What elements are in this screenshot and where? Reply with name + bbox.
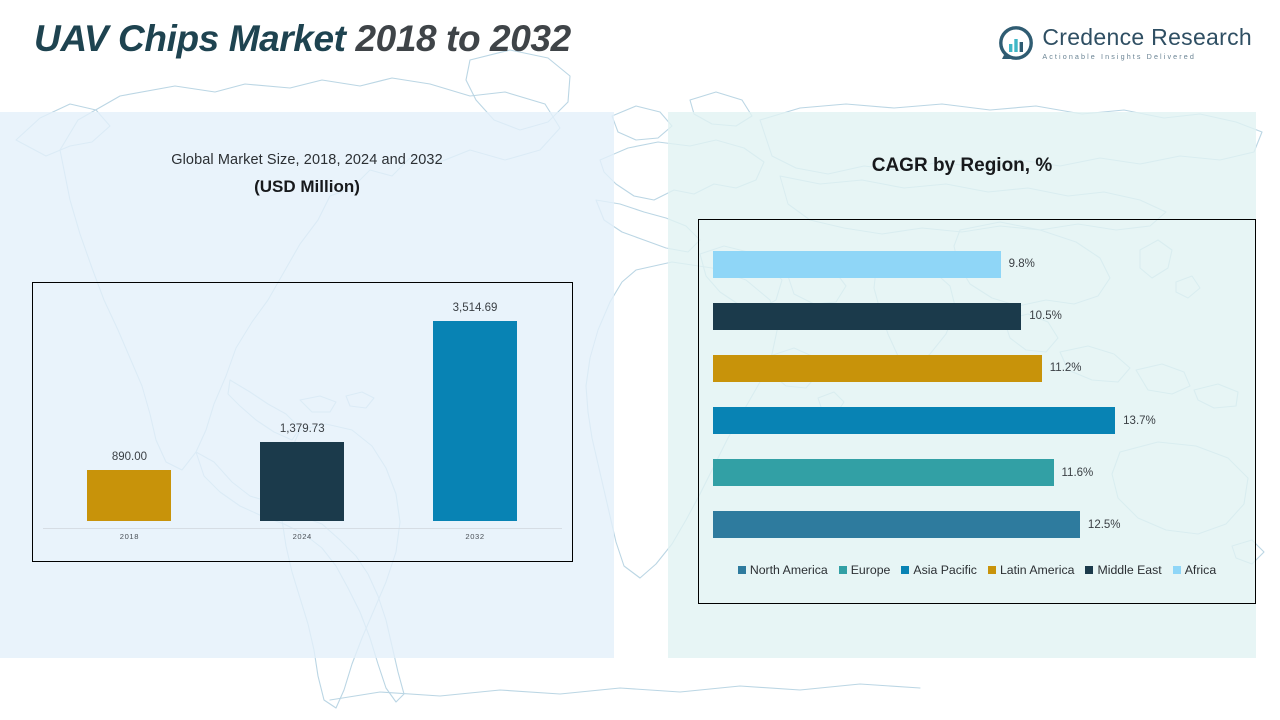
vertical-bar-category-label: 2032 [465, 521, 484, 551]
legend-item[interactable]: North America [738, 563, 828, 577]
right-chart-title-text: CAGR by Region, % [668, 155, 1256, 177]
horizontal-bar-value-label: 12.5% [1088, 519, 1121, 531]
vertical-bars-group: 890.0020181,379.7320243,514.692032 [43, 293, 562, 551]
vertical-bar [433, 321, 517, 521]
horizontal-bar-value-label: 10.5% [1029, 310, 1062, 322]
horizontal-bar [713, 355, 1042, 382]
vertical-bar [87, 470, 171, 521]
legend-swatch-icon [901, 566, 909, 574]
brand-tagline: Actionable Insights Delivered [1042, 53, 1252, 60]
horizontal-bars-group: 9.8%10.5%11.2%13.7%11.6%12.5% [713, 238, 1247, 551]
infographic-root: { "header": { "title_main": "UAV Chips M… [0, 0, 1280, 720]
horizontal-bar-row: 10.5% [713, 290, 1247, 342]
vertical-bar-value-label: 1,379.73 [280, 423, 325, 435]
horizontal-bar [713, 303, 1021, 330]
legend-item[interactable]: Asia Pacific [901, 563, 977, 577]
horizontal-bar-row: 9.8% [713, 238, 1247, 290]
left-chart-title-line1: Global Market Size, 2018, 2024 and 2032 [0, 152, 614, 168]
legend-label: Africa [1185, 563, 1216, 577]
right-chart-title: CAGR by Region, % [668, 155, 1256, 177]
legend-item[interactable]: Europe [839, 563, 891, 577]
horizontal-bar-value-label: 11.6% [1062, 467, 1094, 479]
horizontal-bar-row: 12.5% [713, 499, 1247, 551]
legend-item[interactable]: Middle East [1085, 563, 1161, 577]
horizontal-bar-row: 11.2% [713, 342, 1247, 394]
legend-label: North America [750, 563, 828, 577]
horizontal-bar-row: 13.7% [713, 394, 1247, 446]
cagr-by-region-chart: 9.8%10.5%11.2%13.7%11.6%12.5% North Amer… [698, 219, 1256, 604]
vertical-bar-group: 890.002018 [43, 293, 216, 551]
horizontal-bar-value-label: 9.8% [1009, 258, 1035, 270]
vertical-bar-value-label: 3,514.69 [453, 302, 498, 314]
horizontal-bar [713, 407, 1115, 434]
brand-logo: Credence Research Actionable Insights De… [999, 26, 1252, 60]
legend-swatch-icon [1085, 566, 1093, 574]
legend-item[interactable]: Latin America [988, 563, 1075, 577]
vertical-bar [260, 442, 344, 521]
horizontal-bar [713, 511, 1080, 538]
page-title-years: 2018 to 2032 [355, 18, 570, 59]
left-chart-title-line2: (USD Million) [0, 177, 614, 197]
left-chart-title: Global Market Size, 2018, 2024 and 2032 … [0, 152, 614, 197]
vertical-bar-group: 3,514.692032 [389, 293, 562, 551]
chart-legend: North AmericaEuropeAsia PacificLatin Ame… [699, 563, 1255, 577]
legend-swatch-icon [988, 566, 996, 574]
horizontal-bar [713, 251, 1001, 278]
horizontal-bar-value-label: 11.2% [1050, 362, 1082, 374]
horizontal-bar-row: 11.6% [713, 447, 1247, 499]
legend-label: Europe [851, 563, 891, 577]
legend-label: Asia Pacific [913, 563, 977, 577]
market-size-chart: 890.0020181,379.7320243,514.692032 [32, 282, 573, 562]
vertical-bar-value-label: 890.00 [112, 451, 147, 463]
bar-chart-circle-icon [999, 26, 1033, 60]
horizontal-bar [713, 459, 1054, 486]
brand-name: Credence Research [1042, 26, 1252, 49]
legend-swatch-icon [1173, 566, 1181, 574]
legend-label: Middle East [1097, 563, 1161, 577]
header: UAV Chips Market 2018 to 2032 Credence R… [0, 0, 1280, 112]
legend-swatch-icon [839, 566, 847, 574]
page-title: UAV Chips Market 2018 to 2032 [34, 18, 571, 60]
vertical-bar-category-label: 2018 [120, 521, 139, 551]
legend-swatch-icon [738, 566, 746, 574]
brand-logo-text: Credence Research Actionable Insights De… [1042, 26, 1252, 60]
horizontal-bar-value-label: 13.7% [1123, 415, 1156, 427]
vertical-bar-category-label: 2024 [293, 521, 312, 551]
legend-item[interactable]: Africa [1173, 563, 1216, 577]
legend-label: Latin America [1000, 563, 1075, 577]
vertical-chart-baseline [43, 528, 562, 529]
page-title-main: UAV Chips Market [34, 18, 355, 59]
vertical-bar-group: 1,379.732024 [216, 293, 389, 551]
